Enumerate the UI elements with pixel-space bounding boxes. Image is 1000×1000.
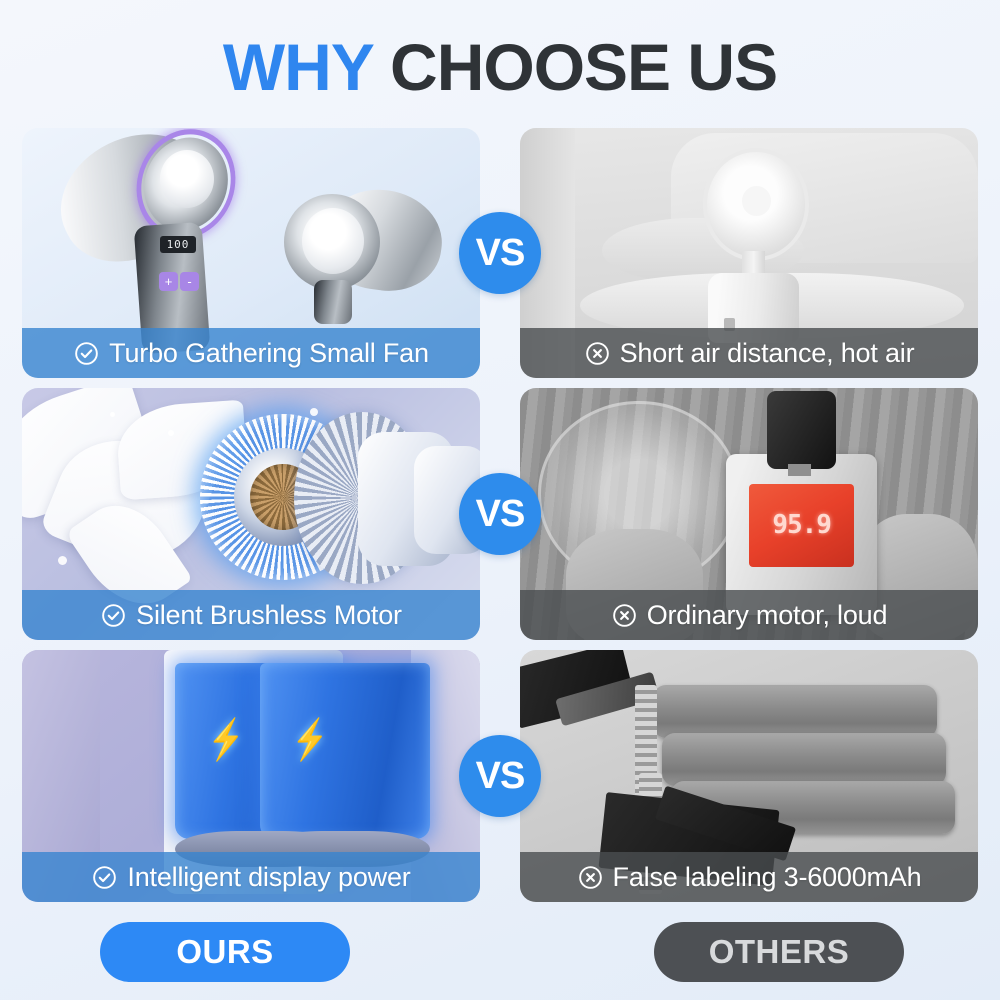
page-title-highlight: WHY [223,30,373,104]
ours-label-text: Silent Brushless Motor [136,600,402,631]
others-panel-desk-fan[interactable]: Short air distance, hot air [520,128,978,378]
ours-label-text: Turbo Gathering Small Fan [109,338,429,369]
others-label-sound-meter: Ordinary motor, loud [520,590,978,640]
ours-panel-turbo-fan[interactable]: 100 + - Turbo Gathering Small Fan [22,128,480,378]
lightning-bolt-icon: ⚡ [208,716,244,763]
fan-power-display: 100 [160,236,196,253]
fan-plus-button[interactable]: + [159,272,178,291]
ours-label-battery: Intelligent display power [22,852,480,902]
ours-panel-brushless-motor[interactable]: Silent Brushless Motor [22,388,480,640]
decibel-reading: 95.9 [749,484,854,567]
check-circle-icon [73,340,100,367]
lightning-bolt-icon: ⚡ [292,716,328,763]
others-label-desk-fan: Short air distance, hot air [520,328,978,378]
others-label-text: Ordinary motor, loud [647,600,888,631]
others-panel-sound-meter[interactable]: 95.9 Ordinary motor, loud [520,388,978,640]
others-label-text: False labeling 3-6000mAh [613,862,922,893]
vs-badge: VS [459,473,541,555]
others-label-battery-pack: False labeling 3-6000mAh [520,852,978,902]
x-circle-icon [611,602,638,629]
ours-pill-button[interactable]: OURS [100,922,350,982]
fan-minus-button[interactable]: - [180,272,199,291]
others-panel-battery-pack[interactable]: False labeling 3-6000mAh [520,650,978,902]
ours-label-turbo-fan: Turbo Gathering Small Fan [22,328,480,378]
comparison-row: 100 + - Turbo Gathering Small Fan VS [22,128,978,378]
comparison-grid: 100 + - Turbo Gathering Small Fan VS [22,128,978,908]
others-pill-button[interactable]: OTHERS [654,922,904,982]
ours-label-text: Intelligent display power [127,862,410,893]
page-title-rest: CHOOSE US [373,30,777,104]
check-circle-icon [91,864,118,891]
comparison-row: ⚡ ⚡ Intelligent display power VS [22,650,978,902]
x-circle-icon [584,340,611,367]
x-circle-icon [577,864,604,891]
page-header: WHY CHOOSE US [0,34,1000,100]
footer-pill-row: OURS OTHERS [22,922,978,982]
ours-panel-battery[interactable]: ⚡ ⚡ Intelligent display power [22,650,480,902]
check-circle-icon [100,602,127,629]
ours-label-brushless-motor: Silent Brushless Motor [22,590,480,640]
page-title: WHY CHOOSE US [0,34,1000,100]
comparison-row: Silent Brushless Motor VS 95.9 Ordinary … [22,388,978,640]
vs-badge: VS [459,735,541,817]
others-label-text: Short air distance, hot air [620,338,915,369]
vs-badge: VS [459,212,541,294]
